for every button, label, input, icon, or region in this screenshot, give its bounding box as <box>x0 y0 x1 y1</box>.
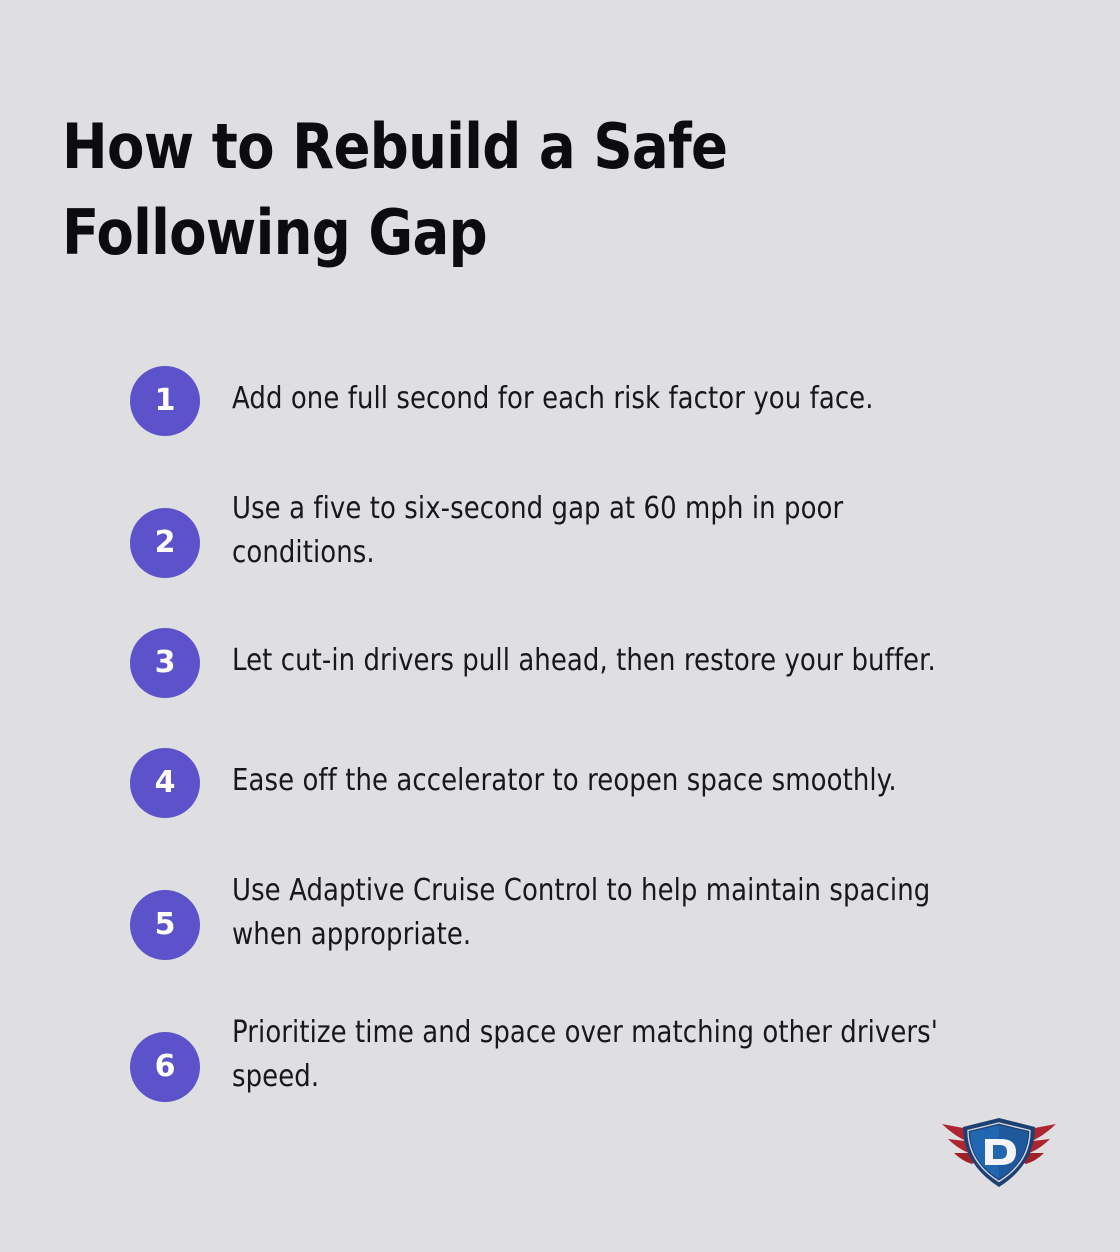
step-number-badge: 5 <box>130 890 200 960</box>
step-text: Prioritize time and space over matching … <box>232 1010 948 1099</box>
step-number-badge: 3 <box>130 628 200 698</box>
step-text: Use Adaptive Cruise Control to help main… <box>232 868 948 957</box>
step-text: Add one full second for each risk factor… <box>232 366 948 421</box>
list-item: 4 Ease off the accelerator to reopen spa… <box>130 748 1060 818</box>
step-number-badge: 6 <box>130 1032 200 1102</box>
page-title: How to Rebuild a Safe Following Gap <box>62 104 842 276</box>
step-number-badge: 4 <box>130 748 200 818</box>
step-text: Let cut-in drivers pull ahead, then rest… <box>232 628 948 683</box>
step-text: Use a five to six-second gap at 60 mph i… <box>232 486 948 575</box>
title-text: How to Rebuild a Safe Following Gap <box>62 104 748 276</box>
list-item: 1 Add one full second for each risk fact… <box>130 366 1060 436</box>
list-item: 6 Prioritize time and space over matchin… <box>130 1010 1060 1102</box>
brand-logo-winged-shield-icon <box>940 1112 1058 1192</box>
steps-list: 1 Add one full second for each risk fact… <box>130 366 1060 1102</box>
infographic-card: How to Rebuild a Safe Following Gap 1 Ad… <box>0 0 1120 1252</box>
step-text: Ease off the accelerator to reopen space… <box>232 748 948 803</box>
step-number-badge: 1 <box>130 366 200 436</box>
list-item: 2 Use a five to six-second gap at 60 mph… <box>130 486 1060 578</box>
logo-letter-d-icon <box>985 1139 1016 1165</box>
list-item: 5 Use Adaptive Cruise Control to help ma… <box>130 868 1060 960</box>
step-number-badge: 2 <box>130 508 200 578</box>
list-item: 3 Let cut-in drivers pull ahead, then re… <box>130 628 1060 698</box>
